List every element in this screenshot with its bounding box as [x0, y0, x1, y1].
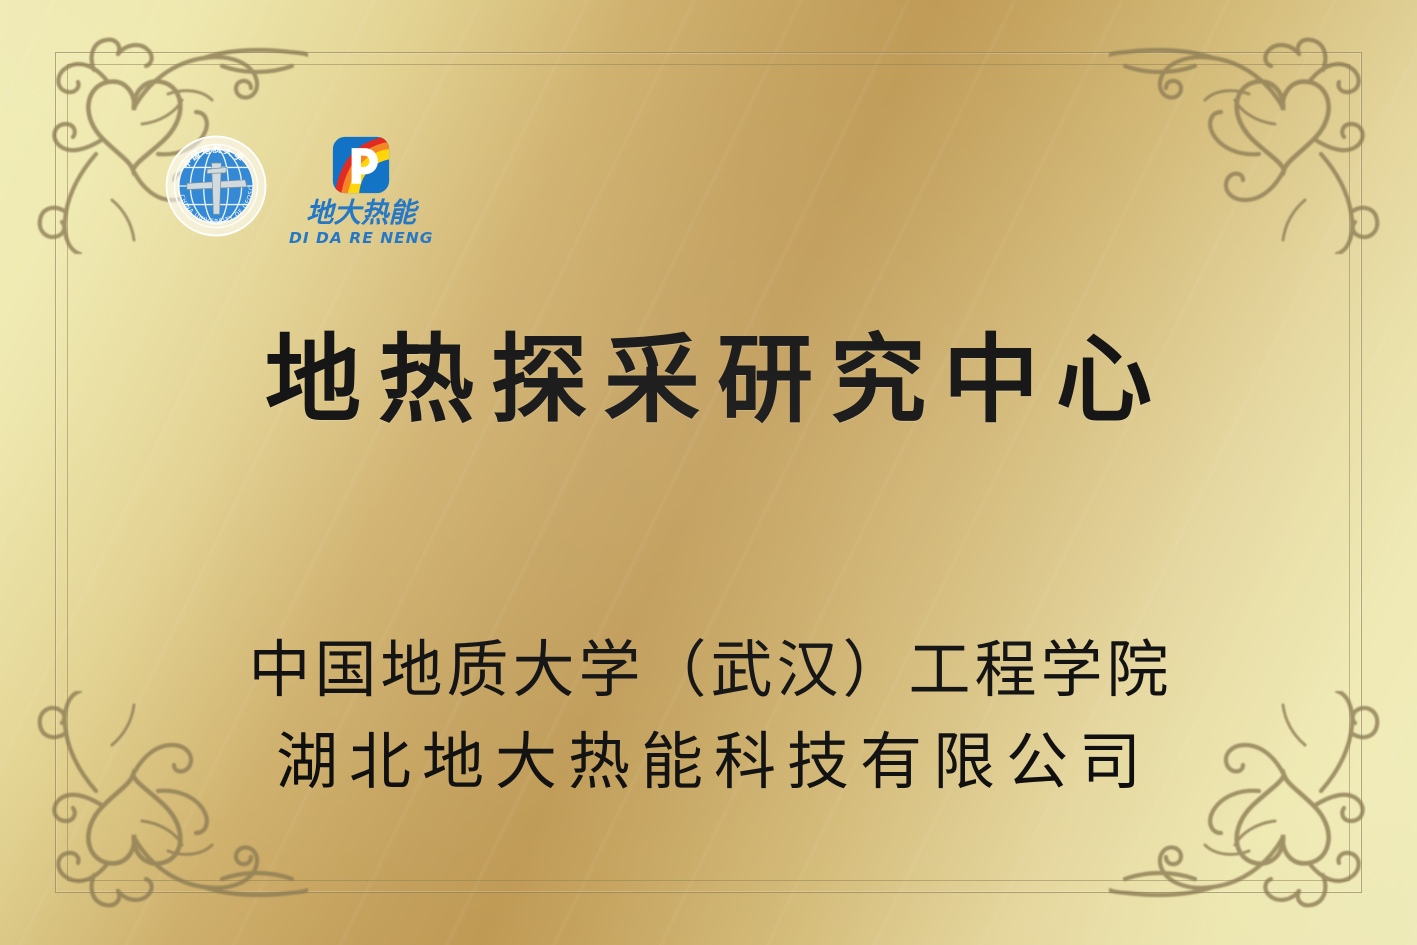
didareneng-mark-icon — [331, 135, 391, 195]
company-name-cn-wordmark: 地大热能 — [291, 196, 431, 230]
scroll-flourish-icon — [1109, 4, 1409, 254]
award-plaque: 中国地质大学 CHINA UNIVERSITY OF GEOSCIENCES 1… — [0, 0, 1417, 945]
svg-text:地大热能: 地大热能 — [306, 197, 419, 229]
plaque-subtitle-block: 中国地质大学（武汉）工程学院 湖北地大热能科技有限公司 — [0, 624, 1417, 808]
plaque-subtitle-line-1: 中国地质大学（武汉）工程学院 — [0, 624, 1417, 716]
plaque-title: 地热探采研究中心 — [0, 330, 1417, 432]
plaque-subtitle-line-2: 湖北地大热能科技有限公司 — [0, 716, 1417, 808]
cug-seal-icon: 中国地质大学 CHINA UNIVERSITY OF GEOSCIENCES 1… — [163, 133, 269, 239]
company-pinyin: DI DA RE NENG — [289, 231, 433, 247]
svg-text:1952: 1952 — [209, 221, 222, 227]
corner-ornament-top-right — [1109, 4, 1409, 254]
logo-row: 中国地质大学 CHINA UNIVERSITY OF GEOSCIENCES 1… — [163, 133, 433, 247]
company-logo: 地大热能 DI DA RE NENG — [289, 135, 433, 247]
